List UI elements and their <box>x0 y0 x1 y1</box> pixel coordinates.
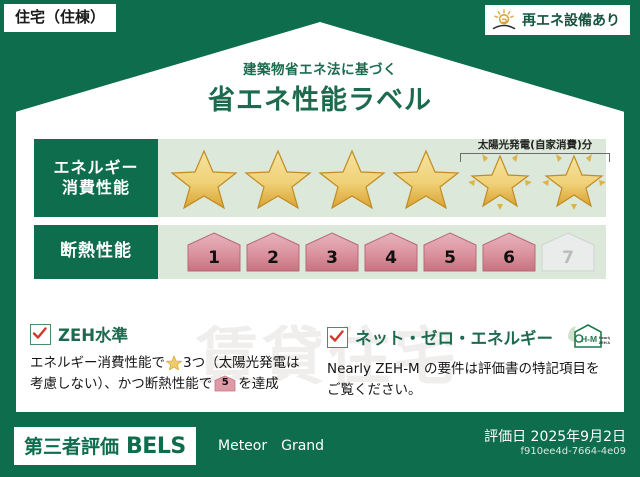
criteria-zeh-text-post: を達成 <box>238 376 279 392</box>
renewable-equipment-badge: 再エネ設備あり <box>485 5 630 35</box>
insulation-grade-label: 4 <box>385 248 397 273</box>
performance-block: エネルギー 消費性能 <box>34 139 606 279</box>
insulation-grade-7: 7 <box>540 231 596 273</box>
insulation-grade-label: 1 <box>208 248 220 273</box>
criteria-section: ZEH水準 エネルギー消費性能で3つ（太陽光発電は考慮しない）、かつ断熱性能で5… <box>30 322 610 401</box>
insulation-grade-5: 5 <box>422 231 478 273</box>
insulation-grade-label: 5 <box>444 248 456 273</box>
insulation-grade-scale: 1 2 3 4 <box>158 225 596 279</box>
star-icon <box>390 146 462 210</box>
nearly-zeh-m-logo-icon: H-M Nearly ZEH-M <box>564 322 610 352</box>
star-icon <box>168 146 240 210</box>
svg-text:H-M: H-M <box>581 334 597 344</box>
criteria-nze-header: ネット・ゼロ・エネルギー H-M Nearly ZEH-M <box>327 322 610 352</box>
bels-jp-label: 第三者評価 <box>24 432 119 459</box>
insulation-grade-2: 2 <box>245 231 301 273</box>
evaluation-id: f910ee4d-7664-4e09 <box>520 446 626 457</box>
category-tag: 住宅（住棟） <box>4 4 116 32</box>
checkbox-checked-icon <box>327 327 348 348</box>
insulation-performance-value: 1 2 3 4 <box>158 225 606 279</box>
checkbox-checked-icon <box>30 324 51 345</box>
evaluation-date-value: 2025年9月2日 <box>531 429 626 445</box>
star-icon <box>316 146 388 210</box>
insulation-grade-4: 4 <box>363 231 419 273</box>
criteria-nze-body: Nearly ZEH-M の要件は評価書の特記項目をご覧ください。 <box>327 359 610 401</box>
sun-icon <box>491 9 517 31</box>
criteria-zeh-body: エネルギー消費性能で3つ（太陽光発電は考慮しない）、かつ断熱性能で5を達成 <box>30 353 309 395</box>
page-title: 省エネ性能ラベル <box>0 78 640 117</box>
insulation-label-text: 断熱性能 <box>60 241 132 262</box>
renewable-badge-label: 再エネ設備あり <box>522 10 620 30</box>
criteria-zeh-text-pre: エネルギー消費性能で <box>30 355 165 371</box>
evaluation-date: 評価日 2025年9月2日 <box>484 426 626 446</box>
evaluation-date-label: 評価日 <box>484 429 526 445</box>
criteria-nze-title: ネット・ゼロ・エネルギー <box>355 325 553 349</box>
insulation-performance-row: 断熱性能 1 2 <box>34 225 606 279</box>
bels-en-label: BELS <box>126 434 186 459</box>
solar-annotation: 太陽光発電(自家消費)分 <box>460 137 610 162</box>
insulation-grade-label: 2 <box>267 248 279 273</box>
energy-performance-row: エネルギー 消費性能 <box>34 139 606 217</box>
star-icon-inline <box>166 355 182 370</box>
building-name: Meteor Grand <box>218 435 324 455</box>
svg-text:ZEH-M: ZEH-M <box>599 340 610 345</box>
criteria-net-zero-energy: ネット・ゼロ・エネルギー H-M Nearly ZEH-M Nearly ZEH… <box>327 322 610 401</box>
insulation-grade-inline-label: 5 <box>214 375 236 391</box>
insulation-grade-label: 7 <box>562 248 574 273</box>
energy-label-line2: 消費性能 <box>62 178 130 198</box>
insulation-grade-3: 3 <box>304 231 360 273</box>
criteria-zeh: ZEH水準 エネルギー消費性能で3つ（太陽光発電は考慮しない）、かつ断熱性能で5… <box>30 322 309 401</box>
criteria-zeh-title: ZEH水準 <box>58 322 128 346</box>
insulation-grade-6: 6 <box>481 231 537 273</box>
energy-performance-value: 太陽光発電(自家消費)分 <box>158 139 610 217</box>
energy-performance-label: 住宅（住棟） 再エネ設備あり 建築物省エネ法に基づく 省エネ性能ラベル <box>0 0 640 477</box>
insulation-grade-label: 3 <box>326 248 338 273</box>
solar-annotation-bracket <box>460 153 610 162</box>
criteria-zeh-header: ZEH水準 <box>30 322 309 346</box>
energy-performance-label: エネルギー 消費性能 <box>34 139 158 217</box>
insulation-grade-inline: 5 <box>214 375 236 392</box>
insulation-grade-1: 1 <box>186 231 242 273</box>
solar-annotation-label: 太陽光発電(自家消費)分 <box>460 137 610 152</box>
star-icon <box>242 146 314 210</box>
insulation-performance-label: 断熱性能 <box>34 225 158 279</box>
insulation-grade-label: 6 <box>503 248 515 273</box>
title-subheading: 建築物省エネ法に基づく <box>0 58 640 78</box>
energy-label-line1: エネルギー <box>53 158 138 178</box>
footer: 第三者評価 BELS Meteor Grand 評価日 2025年9月2日 f9… <box>0 415 640 477</box>
bels-certification-badge: 第三者評価 BELS <box>14 427 196 465</box>
